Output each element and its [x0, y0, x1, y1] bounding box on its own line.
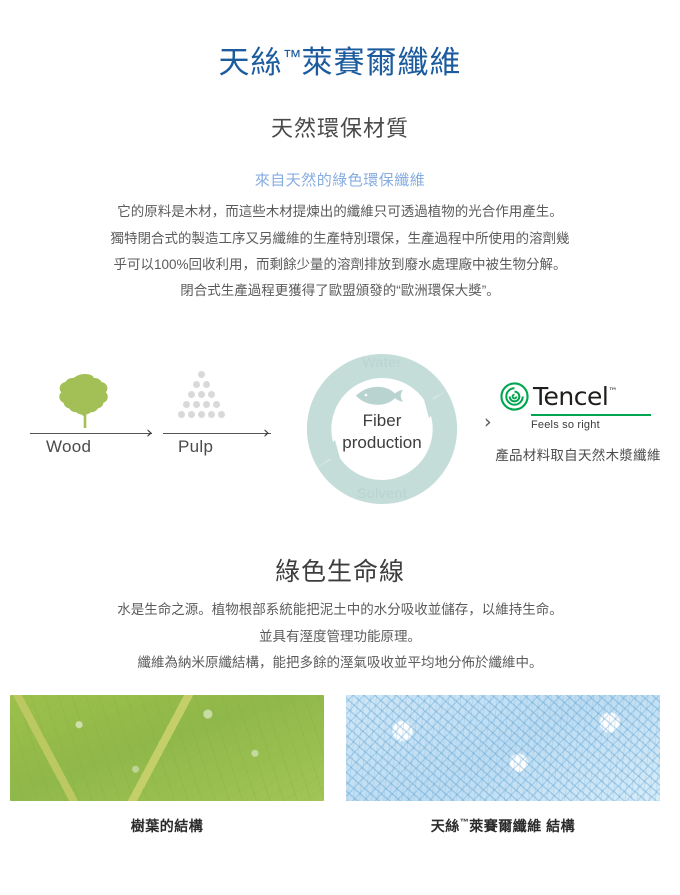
flow-label-wood: Wood — [46, 437, 91, 457]
tencel-wordmark: Tencel™ — [533, 384, 617, 409]
intro-line-4: 閉合式生產過程更獲得了歐盟頒發的“歐洲環保大獎”。 — [0, 278, 680, 304]
tencel-spiral-icon — [500, 382, 529, 411]
tencel-caption: 產品材料取自天然木漿纖維 — [478, 444, 678, 464]
intro-line-3: 乎可以100%回收利用，而剩餘少量的溶劑排放到廢水處理廠中被生物分解。 — [0, 252, 680, 278]
section2-line-2: 並具有溼度管理功能原理。 — [0, 624, 680, 650]
tencel-tagline: Feels so right — [531, 416, 660, 431]
fiber-production-cycle: Water Solvent Fiber production — [297, 344, 467, 514]
fiber-caption-trademark: ™ — [460, 817, 470, 827]
page-title-rest: 萊賽爾纖維 — [302, 45, 462, 80]
leaf-structure-photo — [10, 695, 324, 801]
chevron-right-icon-3: › — [484, 414, 496, 431]
cycle-label-solvent: Solvent — [297, 485, 467, 501]
page-subtitle: 天然環保材質 — [0, 81, 680, 143]
fiber-photo-caption: 天絲™萊賽爾纖維 結構 — [346, 801, 660, 836]
leaf-photo-caption: 樹葉的結構 — [10, 801, 324, 836]
trademark-symbol: ™ — [283, 47, 302, 68]
flow-rule-1 — [30, 433, 152, 434]
pulp-icon — [170, 368, 232, 430]
photo-cell-leaf: 樹葉的結構 — [10, 695, 324, 836]
process-flow-diagram: › › › Wood Pulp Water Solvent — [0, 326, 680, 506]
tencel-logo: Tencel™ Feels so right — [500, 382, 660, 431]
flow-label-pulp: Pulp — [178, 437, 213, 457]
chevron-right-icon-1: › — [146, 425, 158, 442]
photo-comparison: 樹葉的結構 天絲™萊賽爾纖維 結構 — [0, 676, 680, 836]
flow-rule-2 — [163, 433, 271, 434]
intro-lede: 來自天然的綠色環保纖維 — [0, 143, 680, 190]
section2-line-1: 水是生命之源。植物根部系統能把泥土中的水分吸收並儲存，以維持生命。 — [0, 597, 680, 623]
intro-line-2: 獨特閉合式的製造工序又另纖維的生產特別環保，生產過程中所使用的溶劑幾 — [0, 226, 680, 252]
photo-cell-fiber: 天絲™萊賽爾纖維 結構 — [346, 695, 660, 836]
intro-paragraph: 它的原料是木材，而這些木材提煉出的纖維只可透過植物的光合作用產生。 獨特閉合式的… — [0, 190, 680, 304]
tree-icon — [54, 370, 116, 432]
page-root: 天絲™萊賽爾纖維 天然環保材質 來自天然的綠色環保纖維 它的原料是木材，而這些木… — [0, 0, 680, 895]
fish-icon — [352, 382, 412, 408]
fiber-caption-main: 天絲 — [431, 818, 460, 834]
cycle-center-label: Fiber production — [297, 410, 467, 453]
chevron-right-icon-2: › — [263, 425, 275, 442]
section2-paragraph: 水是生命之源。植物根部系統能把泥土中的水分吸收並儲存，以維持生命。 並具有溼度管… — [0, 588, 680, 676]
page-title-main: 天絲 — [219, 45, 283, 80]
tencel-wordmark-text: Tencel — [533, 382, 608, 411]
fiber-structure-photo — [346, 695, 660, 801]
cycle-label-water: Water — [297, 354, 467, 370]
section2-title: 綠色生命線 — [0, 506, 680, 588]
section2-line-3: 纖維為納米原纖結構，能把多餘的溼氣吸收並平均地分佈於纖維中。 — [0, 650, 680, 676]
tencel-trademark: ™ — [608, 387, 617, 397]
intro-line-1: 它的原料是木材，而這些木材提煉出的纖維只可透過植物的光合作用產生。 — [0, 199, 680, 225]
page-title: 天絲™萊賽爾纖維 — [0, 0, 680, 81]
leaf-caption-main: 樹葉的結構 — [131, 818, 204, 834]
fiber-caption-rest: 萊賽爾纖維 結構 — [469, 818, 575, 834]
cycle-center-line2: production — [342, 433, 421, 452]
cycle-center-line1: Fiber — [363, 411, 402, 430]
